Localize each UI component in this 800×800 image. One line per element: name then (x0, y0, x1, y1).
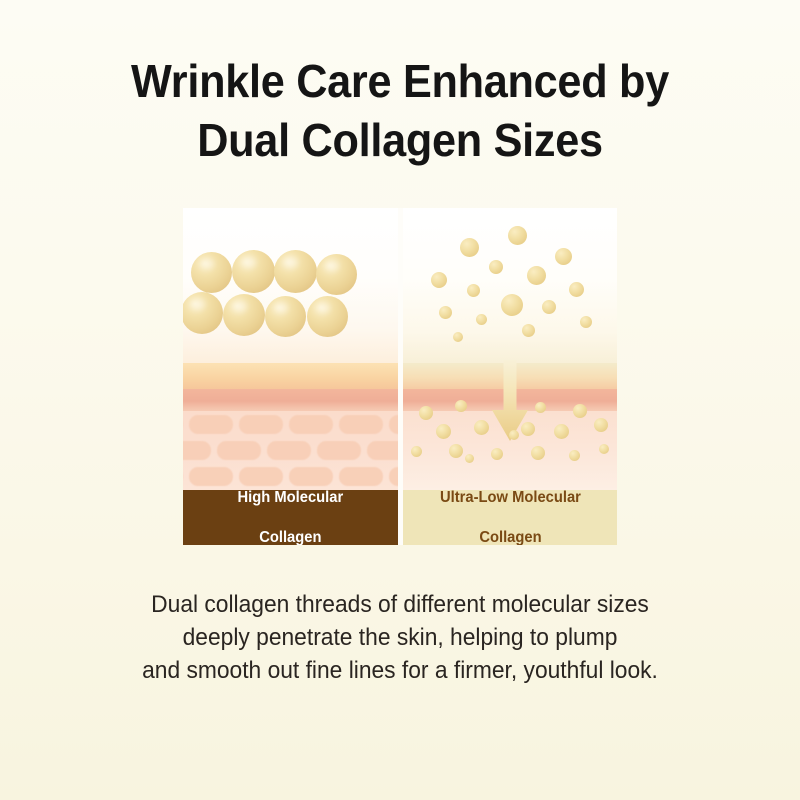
collagen-molecule-small-penetrated (411, 446, 422, 457)
label-high-molecular-line-1: High Molecular (238, 488, 344, 508)
body-copy-line-2: deeply penetrate the skin, helping to pl… (20, 621, 780, 654)
body-copy-line-3: and smooth out fine lines for a firmer, … (20, 654, 780, 687)
label-bar-ultra-low-molecular: Ultra-Low MolecularCollagen (403, 490, 617, 545)
skin-cell (367, 441, 398, 460)
collagen-molecule-small-surface (467, 284, 480, 297)
skin-cell (267, 441, 311, 460)
skin-cell (289, 467, 333, 486)
collagen-molecule-small-surface (439, 306, 452, 319)
collagen-molecule-small-surface (460, 238, 479, 257)
collagen-molecule-small-surface (453, 332, 463, 342)
collagen-molecule-small-penetrated (419, 406, 433, 420)
skin-cell (239, 415, 283, 434)
label-bar-high-molecular: High MolecularCollagen (183, 490, 398, 545)
collagen-molecule-large (307, 296, 348, 337)
collagen-molecule-large (265, 296, 306, 337)
collagen-molecule-small-surface (431, 272, 447, 288)
epidermis-layer-left (183, 363, 398, 389)
collagen-molecule-large (232, 250, 275, 293)
collagen-molecule-small-penetrated (521, 422, 535, 436)
collagen-molecule-large (183, 292, 223, 334)
collagen-molecule-small-surface (508, 226, 527, 245)
skin-cell (339, 467, 383, 486)
label-high-molecular: High MolecularCollagen (235, 488, 345, 546)
collagen-molecule-small-penetrated (465, 454, 474, 463)
skin-cell (239, 467, 283, 486)
page-title-line-1: Wrinkle Care Enhanced by (24, 52, 776, 111)
skin-cell (189, 415, 233, 434)
skin-cell (289, 415, 333, 434)
panel-high-molecular: High MolecularCollagen (183, 208, 398, 545)
collagen-molecule-large (191, 252, 232, 293)
collagen-molecule-small-surface (569, 282, 584, 297)
collagen-molecule-small-surface (489, 260, 503, 274)
collagen-molecule-small-penetrated (569, 450, 580, 461)
collagen-molecule-large (223, 294, 265, 336)
label-ultra-low-molecular-line-1: Ultra-Low Molecular (440, 488, 581, 508)
label-ultra-low-molecular-line-2: Collagen (440, 528, 581, 546)
skin-cell (317, 441, 361, 460)
skin-cell (339, 415, 383, 434)
skin-cell (389, 467, 398, 486)
dermis-band-left (183, 389, 398, 411)
collagen-comparison-illustration: High MolecularCollagen (183, 208, 617, 545)
collagen-molecule-small-penetrated (509, 430, 519, 440)
collagen-molecule-small-penetrated (599, 444, 609, 454)
collagen-molecule-small-surface (542, 300, 556, 314)
skin-cell-grid-left (183, 411, 398, 490)
collagen-molecule-small-surface (555, 248, 572, 265)
collagen-molecule-small-penetrated (474, 420, 489, 435)
collagen-molecule-small-surface (501, 294, 523, 316)
page-title: Wrinkle Care Enhanced by Dual Collagen S… (0, 52, 800, 170)
body-copy-line-1: Dual collagen threads of different molec… (20, 588, 780, 621)
skin-cell (183, 441, 211, 460)
collagen-molecule-small-surface (476, 314, 487, 325)
collagen-molecule-small-penetrated (531, 446, 545, 460)
label-high-molecular-line-2: Collagen (238, 528, 344, 546)
collagen-molecule-small-surface (522, 324, 535, 337)
page-title-line-2: Dual Collagen Sizes (24, 111, 776, 170)
collagen-molecule-small-surface (527, 266, 546, 285)
skin-layers-left (183, 363, 398, 490)
poster-root: Wrinkle Care Enhanced by Dual Collagen S… (0, 0, 800, 800)
collagen-molecule-small-penetrated (491, 448, 503, 460)
skin-cell (189, 467, 233, 486)
collagen-molecule-large (274, 250, 317, 293)
collagen-molecule-small-penetrated (554, 424, 569, 439)
collagen-molecule-small-penetrated (449, 444, 463, 458)
collagen-molecule-small-penetrated (455, 400, 467, 412)
label-ultra-low-molecular: Ultra-Low MolecularCollagen (437, 488, 584, 546)
collagen-molecule-small-penetrated (535, 402, 546, 413)
skin-cell (217, 441, 261, 460)
collagen-molecule-small-penetrated (573, 404, 587, 418)
collagen-molecule-small-surface (580, 316, 592, 328)
body-copy: Dual collagen threads of different molec… (0, 588, 800, 687)
collagen-molecule-small-penetrated (594, 418, 608, 432)
skin-cell (389, 415, 398, 434)
collagen-molecule-large (316, 254, 357, 295)
collagen-molecule-small-penetrated (436, 424, 451, 439)
panel-ultra-low-molecular: Ultra-Low MolecularCollagen (403, 208, 617, 545)
